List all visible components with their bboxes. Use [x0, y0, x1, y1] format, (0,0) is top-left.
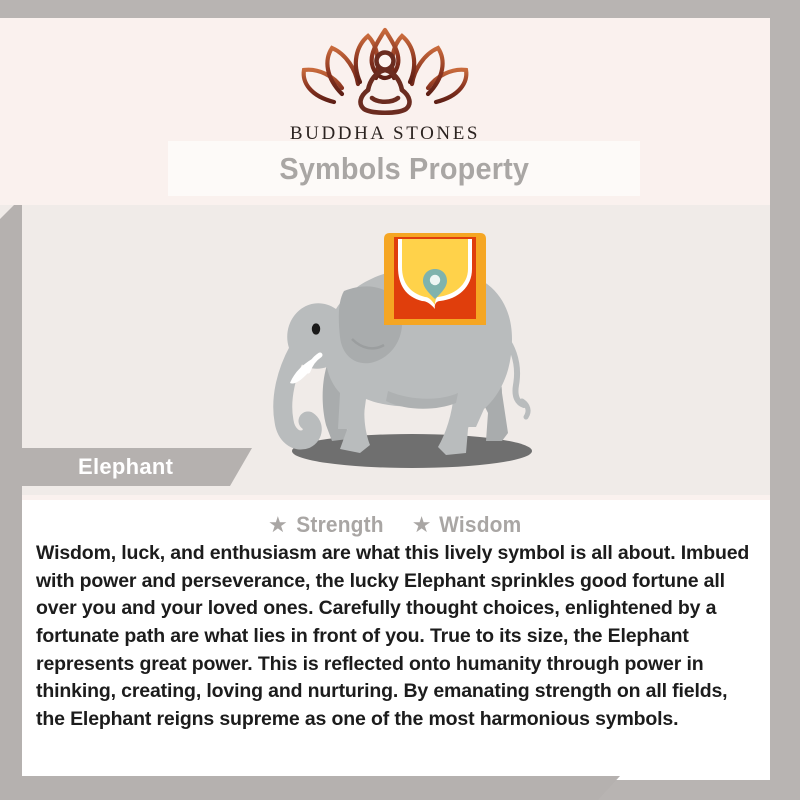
- symbol-description-text: Wisdom, luck, and enthusiasm are what th…: [36, 540, 758, 734]
- trait-item-strength: ★ Strength: [268, 512, 386, 538]
- page-title: Symbols Property: [279, 151, 529, 187]
- brand-header: BUDDHA STONES: [0, 18, 770, 140]
- trait-list: ★ Strength ★ Wisdom: [22, 500, 770, 538]
- lotus-meditation-icon: [290, 24, 480, 121]
- bottom-gray-band: [0, 776, 620, 800]
- star-icon: ★: [268, 514, 288, 536]
- trait-item-wisdom: ★ Wisdom: [412, 512, 524, 538]
- symbol-property-card: BUDDHA STONES Symbols Property: [0, 0, 800, 800]
- symbol-name: Elephant: [78, 454, 173, 480]
- page-title-band: Symbols Property: [168, 141, 640, 196]
- star-icon: ★: [412, 514, 432, 536]
- trait-label-strength: Strength: [296, 512, 383, 538]
- left-gray-strip: [0, 205, 22, 785]
- symbol-name-banner: Elephant: [22, 448, 252, 486]
- trait-label-wisdom: Wisdom: [440, 512, 522, 538]
- top-frame-bar: [0, 0, 800, 18]
- walking-elephant-with-saddle-illustration: [240, 213, 570, 488]
- symbol-description-panel: ★ Strength ★ Wisdom Wisdom, luck, and en…: [22, 500, 770, 780]
- right-frame-bar: [770, 0, 800, 800]
